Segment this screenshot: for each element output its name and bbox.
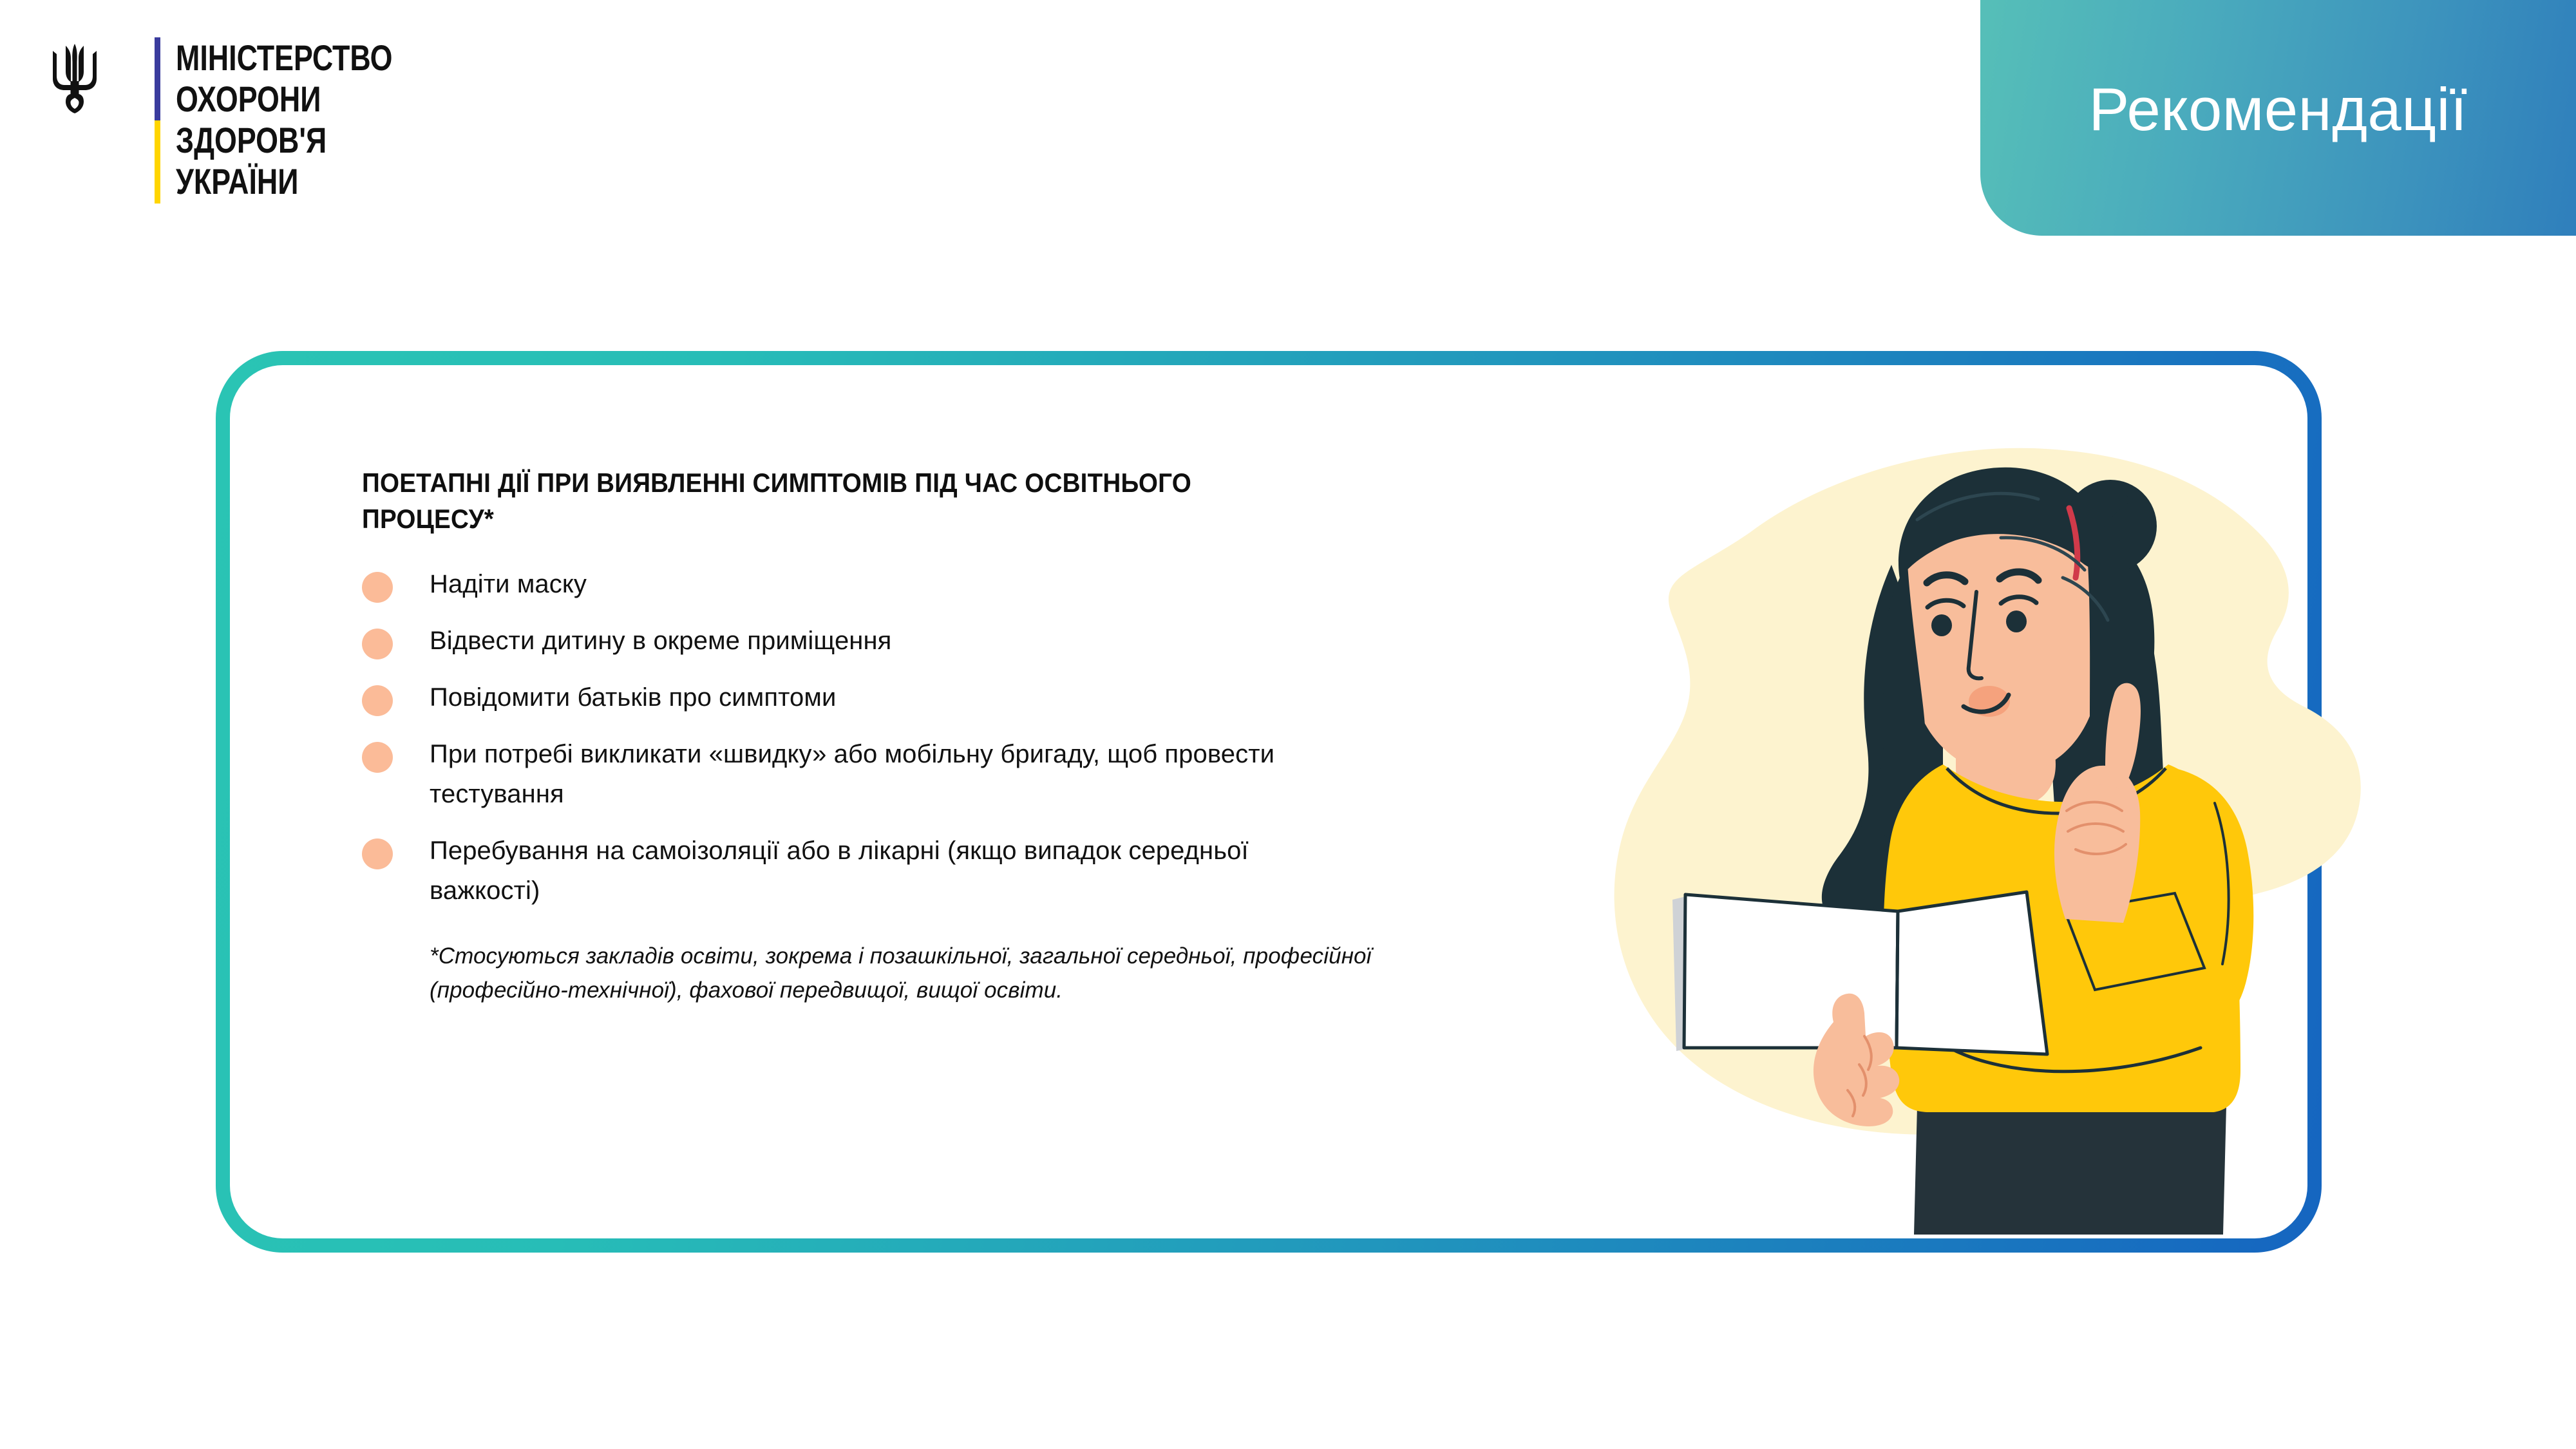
- list-item: При потребі викликати «швидку» або мобіл…: [362, 734, 1418, 814]
- book-page-left: [1684, 895, 1898, 1048]
- logo-line-3: ЗДОРОВ'Я: [176, 120, 393, 161]
- bullet-dot-icon: [362, 838, 393, 869]
- bullet-dot-icon: [362, 572, 393, 603]
- list-item: Перебування на самоізоляції або в лікарн…: [362, 831, 1418, 911]
- list-item-label: Відвести дитину в окреме приміщення: [430, 621, 891, 661]
- ministry-logo: МІНІСТЕРСТВО ОХОРОНИ ЗДОРОВ'Я УКРАЇНИ: [45, 37, 447, 204]
- list-item-label: При потребі викликати «швидку» або мобіл…: [430, 734, 1318, 814]
- bullet-dot-icon: [362, 629, 393, 659]
- bullet-dot-icon: [362, 742, 393, 773]
- ministry-logo-text: МІНІСТЕРСТВО ОХОРОНИ ЗДОРОВ'Я УКРАЇНИ: [176, 37, 447, 202]
- skirt: [1914, 1106, 2226, 1235]
- header-badge: Рекомендації: [1980, 0, 2576, 236]
- action-list: Надіти маску Відвести дитину в окреме пр…: [362, 564, 1418, 911]
- list-item-label: Надіти маску: [430, 564, 587, 604]
- logo-line-1: МІНІСТЕРСТВО: [176, 37, 393, 79]
- list-item-label: Перебування на самоізоляції або в лікарн…: [430, 831, 1318, 911]
- ukraine-trident-icon: [45, 43, 104, 113]
- list-item: Надіти маску: [362, 564, 1418, 604]
- card-text-column: ПОЕТАПНІ ДІЇ ПРИ ВИЯВЛЕННІ СИМПТОМІВ ПІД…: [362, 465, 1418, 1007]
- woman-with-book-illustration: [1557, 404, 2394, 1235]
- content-card: ПОЕТАПНІ ДІЇ ПРИ ВИЯВЛЕННІ СИМПТОМІВ ПІД…: [216, 351, 2322, 1253]
- logo-line-4: УКРАЇНИ: [176, 161, 393, 202]
- list-item: Відвести дитину в окреме приміщення: [362, 621, 1418, 661]
- eye-left: [1931, 614, 1952, 636]
- book-spine: [1897, 911, 1898, 1048]
- list-item: Повідомити батьків про симптоми: [362, 677, 1418, 717]
- bullet-dot-icon: [362, 685, 393, 716]
- logo-line-2: ОХОРОНИ: [176, 79, 393, 120]
- eye-right: [2006, 611, 2027, 632]
- page-title: Рекомендації: [2088, 79, 2467, 140]
- panel-title: ПОЕТАПНІ ДІЇ ПРИ ВИЯВЛЕННІ СИМПТОМІВ ПІД…: [362, 465, 1286, 537]
- list-item-label: Повідомити батьків про симптоми: [430, 677, 836, 717]
- footnote-text: *Стосуються закладів освіти, зокрема і п…: [430, 939, 1383, 1007]
- ukraine-flag-bar: [155, 37, 160, 204]
- book-page-right: [1897, 892, 2047, 1054]
